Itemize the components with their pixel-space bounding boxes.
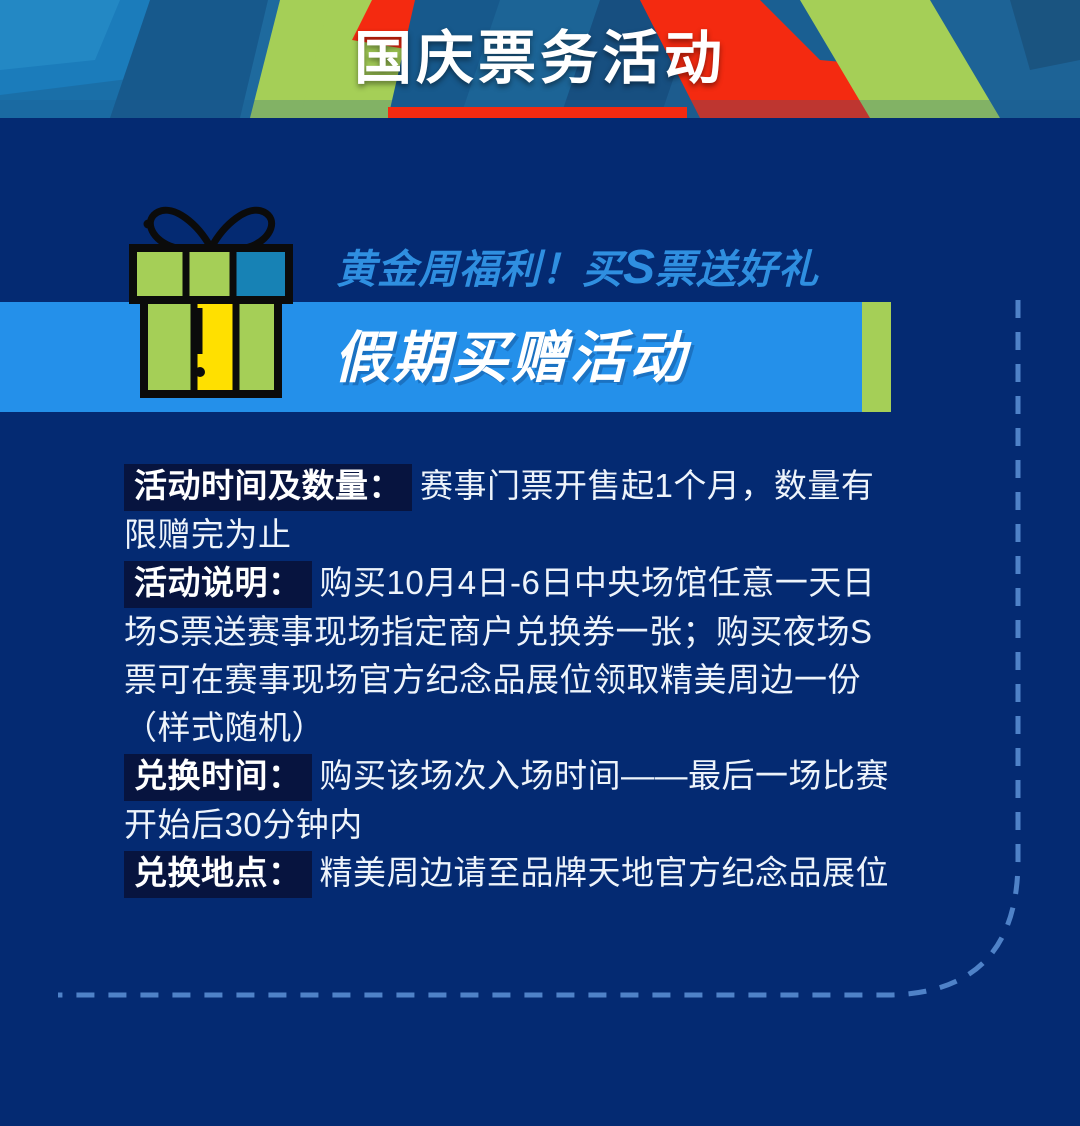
poster-page: 国庆票务活动: [0, 0, 1080, 1126]
header-bottom-strip: [0, 118, 1080, 128]
tagline-s: S: [623, 241, 655, 294]
content-label-3: 兑换地点：: [124, 851, 312, 898]
content-label-1: 活动说明：: [124, 561, 312, 608]
content-item-3: 兑换地点：精美周边请至品牌天地官方纪念品展位: [124, 849, 904, 898]
content-item-0: 活动时间及数量：赛事门票开售起1个月，数量有限赠完为止: [124, 462, 904, 559]
gift-box-glyph: [128, 196, 294, 398]
gift-box-icon: [128, 196, 294, 398]
content-item-2: 兑换时间：购买该场次入场时间——最后一场比赛开始后30分钟内: [124, 752, 904, 849]
tagline-suffix: 票送好礼: [655, 248, 819, 292]
header-banner: 国庆票务活动: [0, 0, 1080, 118]
content-label-0: 活动时间及数量：: [124, 464, 412, 511]
tagline-prefix: 黄金周福利！买: [336, 248, 623, 292]
content-body: 活动时间及数量：赛事门票开售起1个月，数量有限赠完为止 活动说明：购买10月4日…: [124, 462, 904, 898]
content-label-2: 兑换时间：: [124, 754, 312, 801]
content-value-3: 精美周边请至品牌天地官方纪念品展位: [320, 854, 890, 891]
content-item-1: 活动说明：购买10月4日-6日中央场馆任意一天日场S票送赛事现场指定商户兑换券一…: [124, 559, 904, 752]
promo-band-accent: [862, 302, 891, 412]
promo-tagline: 黄金周福利！买S票送好礼: [336, 237, 819, 295]
header-title: 国庆票务活动: [0, 0, 1080, 118]
promo-band-title: 假期买赠活动: [334, 313, 688, 394]
